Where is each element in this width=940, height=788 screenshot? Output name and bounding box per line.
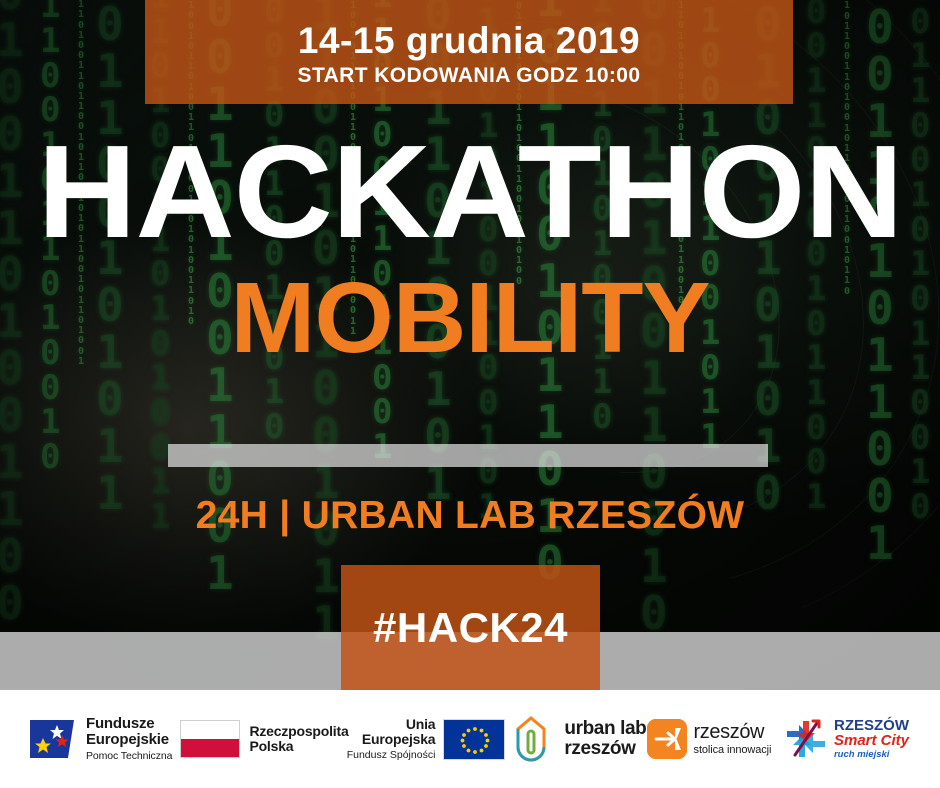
logo-fundusze-europejskie: Fundusze Europejskie Pomoc Techniczna: [14, 716, 180, 762]
european-union-flag-icon: [443, 719, 505, 760]
logo-rzeczpospolita-polska: Rzeczpospolita Polska: [180, 720, 345, 758]
smart-city-arrows-icon: [783, 717, 829, 761]
rzeszow-arrow-icon: [647, 719, 687, 759]
logo-line-1: Rzeczpospolita: [249, 724, 348, 739]
logo-strip: Fundusze Europejskie Pomoc Techniczna Rz…: [0, 713, 940, 765]
date-banner: 14-15 grudnia 2019 START KODOWANIA GODZ …: [145, 0, 793, 104]
event-start-time: START KODOWANIA GODZ 10:00: [298, 64, 641, 88]
logo-fundusze-europejskie-text: Fundusze Europejskie Pomoc Techniczna: [86, 716, 172, 762]
logo-line-1: Fundusze: [86, 716, 172, 732]
logo-smart-city-text: RZESZÓW Smart City ruch miejski: [834, 718, 909, 761]
urban-lab-building-icon: [505, 713, 557, 765]
hackathon-poster: 0 1 0 0 1 1 0 1 0 0 1 1 0 0 1 0 1 1 0 0 …: [0, 0, 940, 788]
hashtag-label: #HACK24: [373, 604, 568, 652]
sponsor-footer: Fundusze Europejskie Pomoc Techniczna Rz…: [0, 690, 940, 788]
logo-unia-europejska: Unia Europejska Fundusz Spójności: [345, 717, 505, 762]
logo-line-2: Polska: [249, 739, 348, 754]
poland-flag-icon: [180, 720, 240, 758]
logo-urban-lab-text: urban lab rzeszów: [564, 719, 646, 760]
logo-line-2: Fundusz Spójności: [345, 749, 435, 761]
logo-line-1: Unia Europejska: [345, 717, 435, 748]
page-title: HACKATHON: [0, 128, 940, 256]
divider-bar: [168, 444, 768, 467]
logo-line-2: Smart City: [834, 733, 909, 749]
logo-urban-lab-rzeszow: urban lab rzeszów: [505, 713, 646, 765]
logo-line-3: Pomoc Techniczna: [86, 750, 172, 762]
logo-line-2: rzeszów: [564, 739, 646, 759]
hashtag-box: #HACK24: [341, 565, 600, 690]
logo-rzeszow-stolica-innowacji: rzeszów stolica innowacji: [647, 719, 783, 759]
venue-line: 24H | URBAN LAB RZESZÓW: [0, 494, 940, 538]
logo-line-2: stolica innowacji: [694, 744, 772, 756]
eu-funds-stars-icon: [28, 718, 78, 760]
logo-rzeszow-text: rzeszów stolica innowacji: [694, 722, 772, 756]
logo-rzeczpospolita-polska-text: Rzeczpospolita Polska: [249, 724, 348, 755]
logo-unia-europejska-text: Unia Europejska Fundusz Spójności: [345, 717, 435, 762]
headline-block: HACKATHON MOBILITY: [0, 128, 940, 368]
event-date: 14-15 grudnia 2019: [298, 22, 640, 61]
logo-line-1: rzeszów: [694, 722, 772, 743]
logo-line-2: Europejskie: [86, 732, 172, 748]
logo-rzeszow-smart-city: RZESZÓW Smart City ruch miejski: [783, 717, 926, 761]
page-subtitle: MOBILITY: [0, 268, 940, 368]
logo-line-1: urban lab: [564, 719, 646, 739]
logo-line-3: ruch miejski: [834, 750, 909, 760]
logo-line-1: RZESZÓW: [834, 718, 909, 734]
